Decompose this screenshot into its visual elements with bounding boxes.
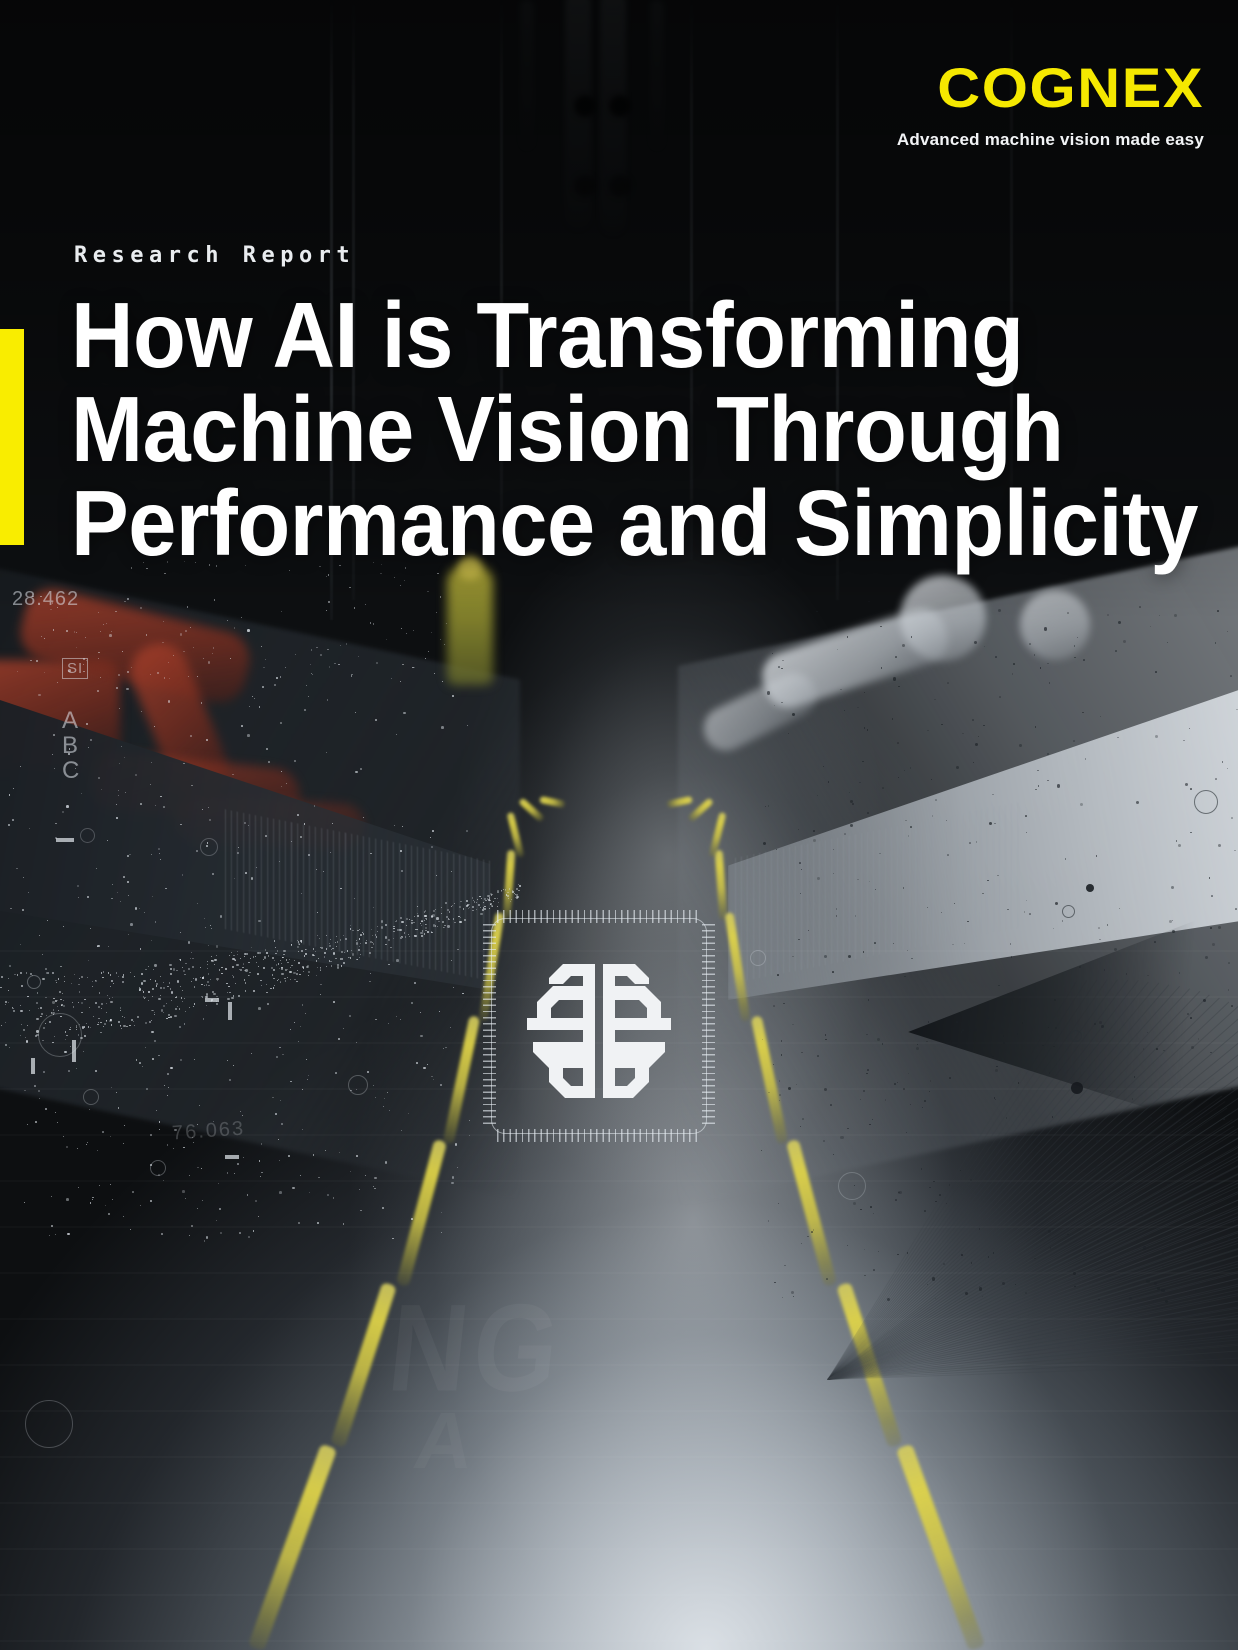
page-title-line-3: Performance and Simplicity [71,476,1057,570]
page-title-line-1: How AI is Transforming [71,288,1057,382]
hud-ring [838,1172,866,1200]
page-title: How AI is Transforming Machine Vision Th… [71,288,1057,570]
hud-tick [72,1040,76,1062]
hud-dot-dark [1086,884,1094,892]
hud-ring [83,1089,99,1105]
hud-tick [228,1002,232,1020]
hud-dot-dark [1071,1082,1083,1094]
hud-ring [200,838,218,856]
hud-ring-dark [1070,1030,1082,1042]
hud-tick [225,1155,239,1159]
factory-worker [447,565,493,685]
hud-ring-dark [1194,790,1218,814]
hud-tick [31,1058,35,1074]
yellow-accent-bar [0,329,24,545]
report-cover-page: NG A 28.462 SI A B C 76.063 [0,0,1238,1650]
hud-tick [205,998,219,1002]
hud-ring [348,1075,368,1095]
robot-joint-right [1020,590,1090,660]
hud-ring [25,1400,73,1448]
cognex-wordmark: COGNEX [878,60,1204,116]
cognex-logo[interactable]: COGNEX Advanced machine vision made easy [897,60,1204,150]
page-title-line-2: Machine Vision Through [71,382,1057,476]
report-type-eyebrow: Research Report [74,243,355,268]
ai-brain-icon [519,956,679,1106]
hud-ring [750,950,766,966]
hud-ring [150,1160,166,1176]
hud-ring-dark [1062,905,1075,918]
hud-tick [56,838,74,842]
cognex-tagline: Advanced machine vision made easy [897,130,1204,150]
ai-chip-emblem [483,910,715,1142]
hud-ring [27,975,41,989]
hud-ring [80,828,95,843]
